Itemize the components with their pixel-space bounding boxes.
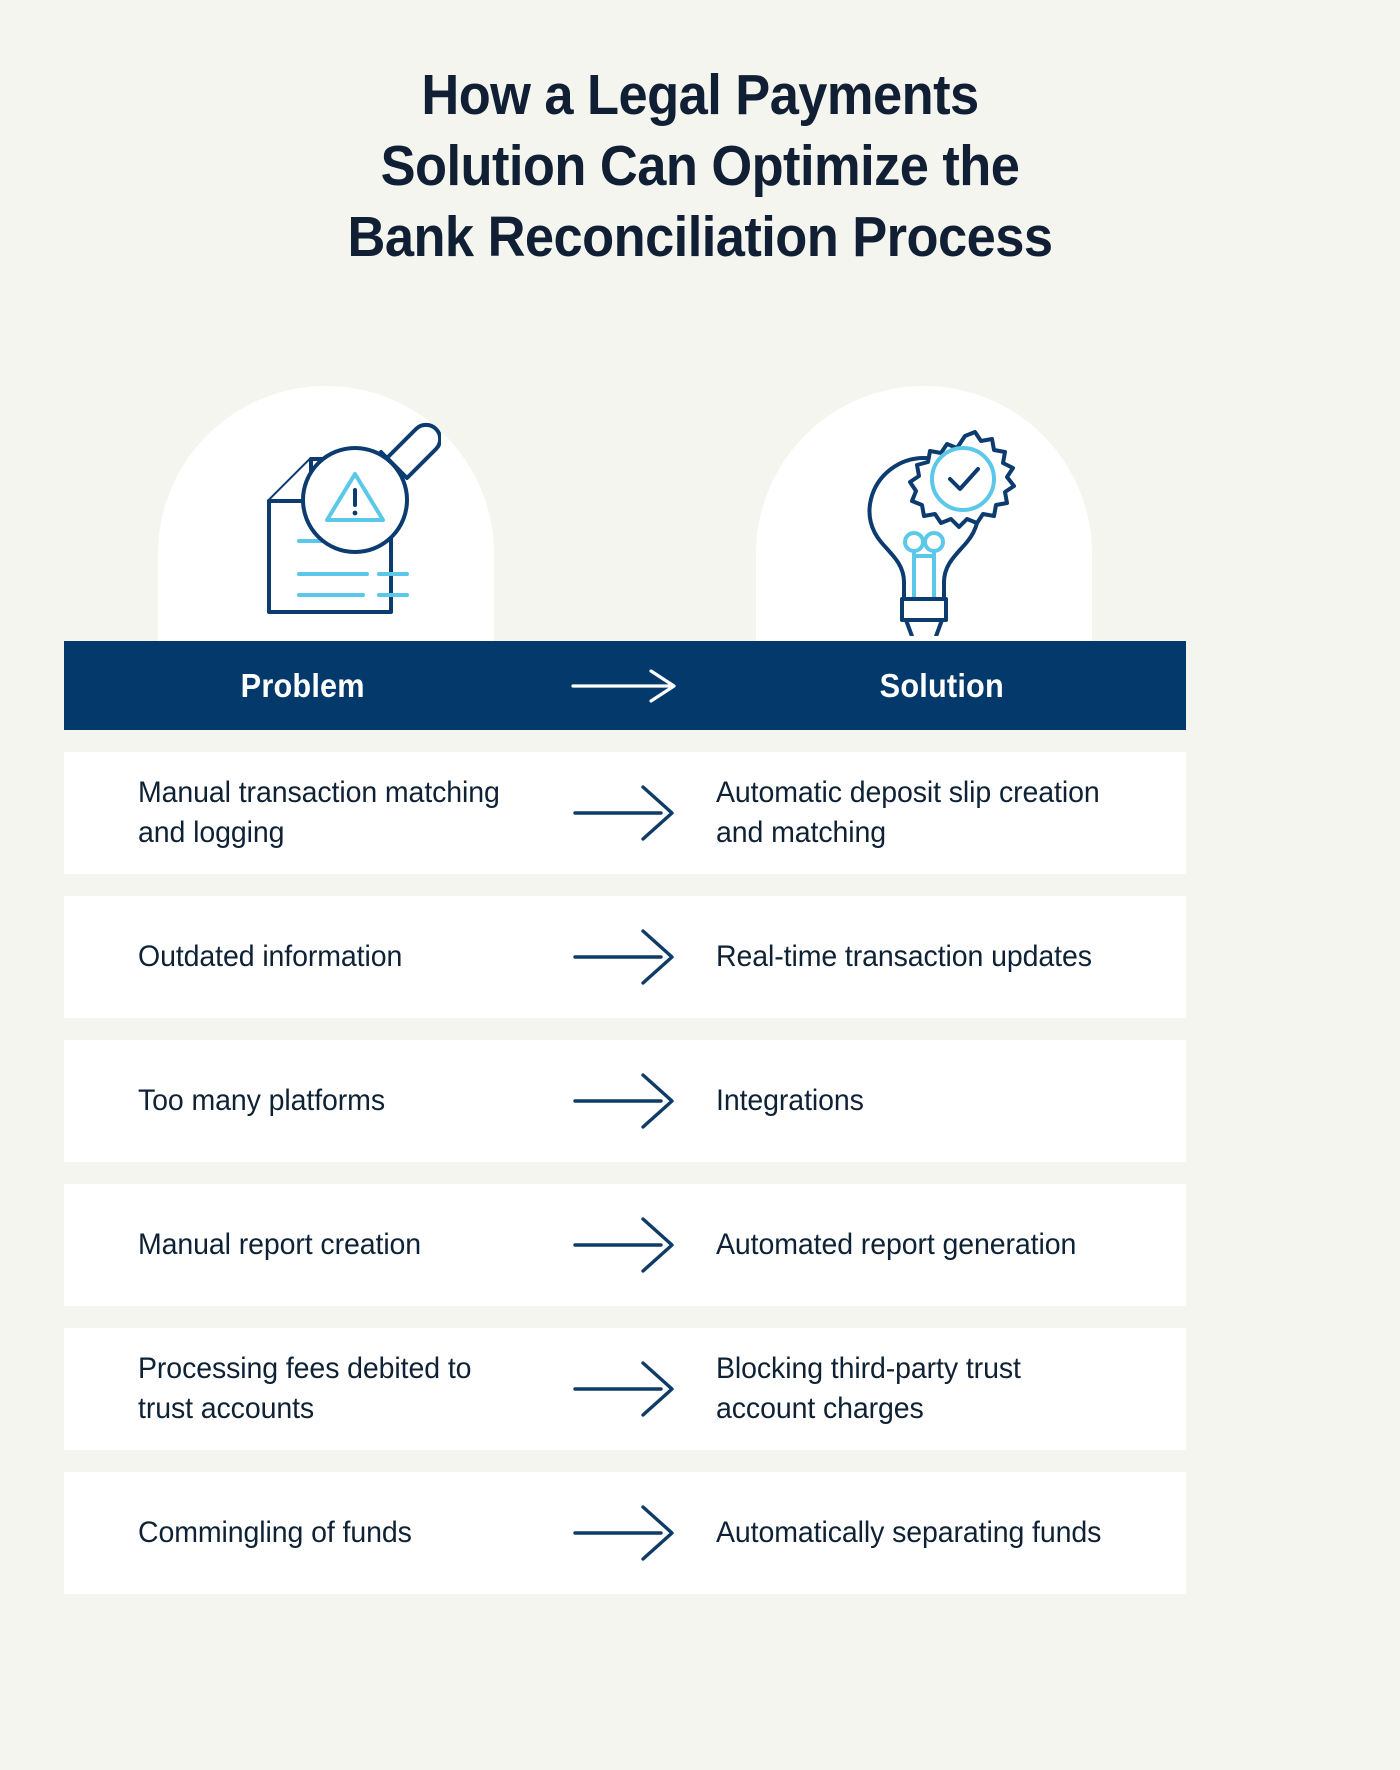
problem-text: Manual report creation: [138, 1225, 421, 1265]
problem-cell: Commingling of funds: [64, 1513, 542, 1553]
problem-cell: Too many platforms: [64, 1081, 542, 1121]
solution-text: Integrations: [716, 1081, 864, 1121]
problem-text: Too many platforms: [138, 1081, 385, 1121]
table-header-row: Problem Solution: [64, 641, 1186, 730]
problem-cell: Outdated information: [64, 937, 542, 977]
table-row: Manual report creation Automated report …: [64, 1184, 1186, 1306]
table-row: Too many platforms Integrations: [64, 1040, 1186, 1162]
solution-cell: Automatic deposit slip creation and matc…: [708, 773, 1186, 853]
row-arrow-icon: [542, 1215, 708, 1275]
page-title: How a Legal Payments Solution Can Optimi…: [0, 60, 1400, 273]
problem-text: Processing fees debited to trust account…: [138, 1349, 510, 1429]
header-problem-column: Problem: [64, 667, 542, 705]
lightbulb-gear-check-icon: [809, 396, 1039, 636]
table-row: Outdated information Real-time transacti…: [64, 896, 1186, 1018]
table-row: Commingling of funds Automatically separ…: [64, 1472, 1186, 1594]
solution-cell: Real-time transaction updates: [708, 937, 1186, 977]
problem-cell: Manual transaction matching and logging: [64, 773, 542, 853]
header-arrow-icon: [542, 669, 708, 703]
solution-text: Automatically separating funds: [716, 1513, 1101, 1553]
solution-text: Blocking third-party trust account charg…: [716, 1349, 1125, 1429]
header-solution-column: Solution: [708, 667, 1186, 705]
solution-icon-cell: [754, 330, 1094, 642]
row-arrow-icon: [542, 1071, 708, 1131]
problem-cell: Processing fees debited to trust account…: [64, 1349, 542, 1429]
row-arrow-icon: [542, 927, 708, 987]
document-warning-magnifier-icon: [211, 396, 441, 636]
problem-text: Commingling of funds: [138, 1513, 412, 1553]
problem-solution-table: Problem Solution Manual transaction matc…: [64, 641, 1186, 1594]
row-arrow-icon: [542, 1359, 708, 1419]
solution-cell: Automatically separating funds: [708, 1513, 1186, 1553]
title-line-1: How a Legal Payments: [56, 60, 1344, 131]
header-solution-label: Solution: [880, 667, 1004, 705]
problem-cell: Manual report creation: [64, 1225, 542, 1265]
solution-text: Automatic deposit slip creation and matc…: [716, 773, 1125, 853]
table-body: Manual transaction matching and logging …: [64, 752, 1186, 1594]
table-row: Processing fees debited to trust account…: [64, 1328, 1186, 1450]
row-arrow-icon: [542, 783, 708, 843]
infographic-root: How a Legal Payments Solution Can Optimi…: [0, 0, 1400, 1770]
header-problem-label: Problem: [241, 667, 365, 705]
row-arrow-icon: [542, 1503, 708, 1563]
problem-text: Outdated information: [138, 937, 402, 977]
title-line-2: Solution Can Optimize the: [56, 131, 1344, 202]
solution-cell: Automated report generation: [708, 1225, 1186, 1265]
solution-text: Real-time transaction updates: [716, 937, 1092, 977]
title-line-3: Bank Reconciliation Process: [56, 202, 1344, 273]
solution-cell: Blocking third-party trust account charg…: [708, 1349, 1186, 1429]
solution-text: Automated report generation: [716, 1225, 1076, 1265]
problem-icon-cell: [156, 330, 496, 642]
problem-text: Manual transaction matching and logging: [138, 773, 510, 853]
table-row: Manual transaction matching and logging …: [64, 752, 1186, 874]
icon-row: [64, 330, 1186, 642]
solution-cell: Integrations: [708, 1081, 1186, 1121]
